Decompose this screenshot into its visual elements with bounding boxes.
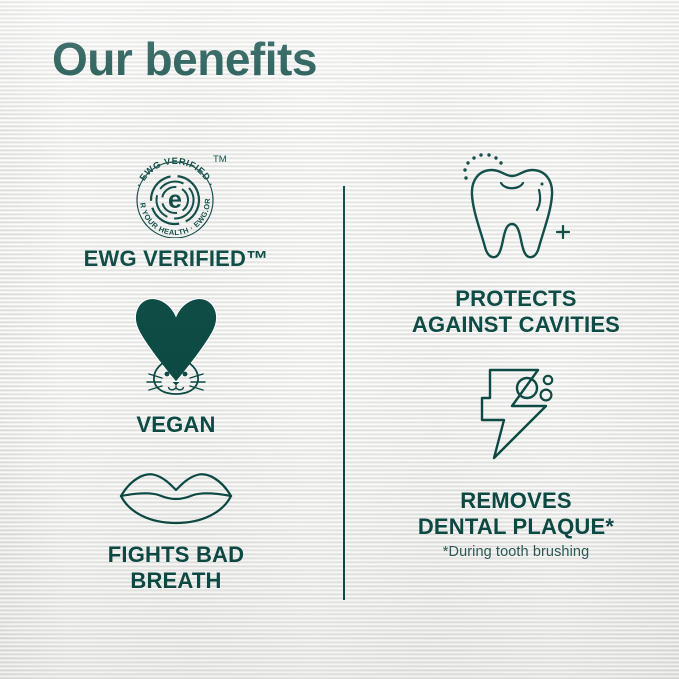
benefit-label-removes-dental-plaque: REMOVES DENTAL PLAQUE* bbox=[360, 488, 672, 540]
bunny-heart-icon bbox=[28, 288, 324, 398]
lightning-bolt-bubbles-icon bbox=[360, 358, 672, 464]
benefit-label-protects-against-cavities: PROTECTS AGAINST CAVITIES bbox=[360, 286, 672, 338]
benefit-item-protects-against-cavities: PROTECTS AGAINST CAVITIES bbox=[360, 150, 672, 338]
benefit-label-ewg-verified: EWG VERIFIED™ bbox=[28, 246, 324, 272]
benefit-item-vegan: VEGAN bbox=[28, 288, 324, 438]
benefits-panel: Our benefits · EWG VERIFIED · · FOR YOUR… bbox=[0, 0, 679, 679]
svg-text:· EWG VERIFIED ·: · EWG VERIFIED · bbox=[134, 156, 216, 188]
sparkling-tooth-icon bbox=[360, 150, 672, 264]
benefit-footnote-removes-dental-plaque: *During tooth brushing bbox=[360, 544, 672, 561]
benefit-label-vegan: VEGAN bbox=[28, 412, 324, 438]
page-title: Our benefits bbox=[52, 34, 317, 85]
benefit-item-ewg-verified: · EWG VERIFIED · · FOR YOUR HEALTH · EWG… bbox=[28, 148, 324, 272]
benefit-item-fights-bad-breath: FIGHTS BAD BREATH bbox=[28, 462, 324, 594]
ewg-verified-badge-icon: · EWG VERIFIED · · FOR YOUR HEALTH · EWG… bbox=[28, 148, 324, 238]
svg-text:TM: TM bbox=[213, 154, 227, 165]
column-divider bbox=[343, 186, 345, 600]
benefit-item-removes-dental-plaque: REMOVES DENTAL PLAQUE* *During tooth bru… bbox=[360, 358, 672, 561]
benefit-label-fights-bad-breath: FIGHTS BAD BREATH bbox=[28, 542, 324, 594]
lips-icon bbox=[28, 462, 324, 528]
svg-text:e: e bbox=[168, 186, 182, 214]
